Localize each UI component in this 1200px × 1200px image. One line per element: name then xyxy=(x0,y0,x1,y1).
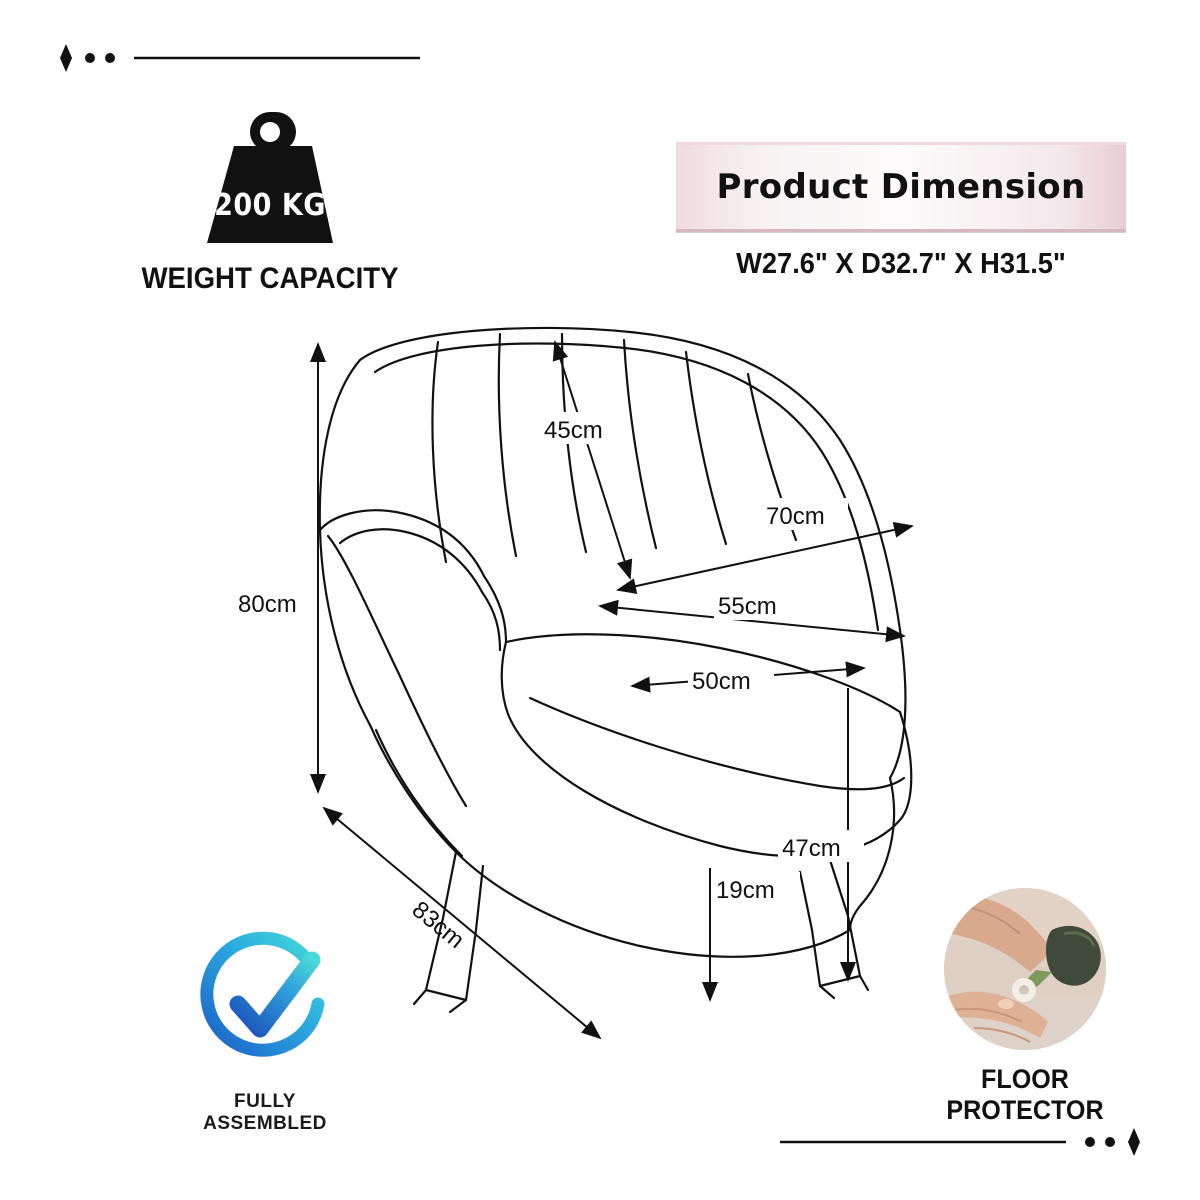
dim-seat-width: 55cm xyxy=(718,593,777,620)
dim-depth-total: 83cm xyxy=(407,896,470,954)
dim-width-overall: 70cm xyxy=(766,503,825,530)
fully-assembled-block: FULLY ASSEMBLED xyxy=(175,930,355,1135)
bottom-decorative-flourish xyxy=(778,1122,1158,1162)
floor-protector-label: FLOOR PROTECTOR xyxy=(923,1064,1128,1126)
dim-height-total: 80cm xyxy=(238,591,297,618)
hand-applying-felt-pad-photo xyxy=(944,888,1106,1050)
product-dimension-title: Product Dimension xyxy=(717,167,1086,207)
fully-assembled-line1: FULLY xyxy=(175,1091,355,1113)
product-dimension-banner: Product Dimension xyxy=(676,142,1126,232)
fully-assembled-line2: ASSEMBLED xyxy=(175,1113,355,1135)
fully-assembled-label: FULLY ASSEMBLED xyxy=(175,1091,355,1135)
top-decorative-flourish xyxy=(42,38,422,78)
product-dimension-value: W27.6" X D32.7" X H31.5" xyxy=(690,248,1113,281)
dim-back-height: 45cm xyxy=(544,417,603,444)
weight-icon-wrapper: 200 KG xyxy=(185,100,355,250)
dim-leg-height: 19cm xyxy=(716,877,775,904)
check-circle-icon xyxy=(190,930,340,1080)
dim-seat-height: 47cm xyxy=(782,835,841,862)
floor-protector-block: FLOOR PROTECTOR xyxy=(915,888,1135,1126)
weight-capacity-block: 200 KG WEIGHT CAPACITY xyxy=(120,100,420,296)
weight-capacity-value: 200 KG xyxy=(185,188,355,223)
product-dimension-block: Product Dimension W27.6" X D32.7" X H31.… xyxy=(676,142,1126,281)
floor-protector-photo xyxy=(944,888,1106,1050)
weight-icon xyxy=(185,100,355,250)
dim-seat-depth: 50cm xyxy=(692,668,751,695)
weight-capacity-label: WEIGHT CAPACITY xyxy=(132,262,408,296)
